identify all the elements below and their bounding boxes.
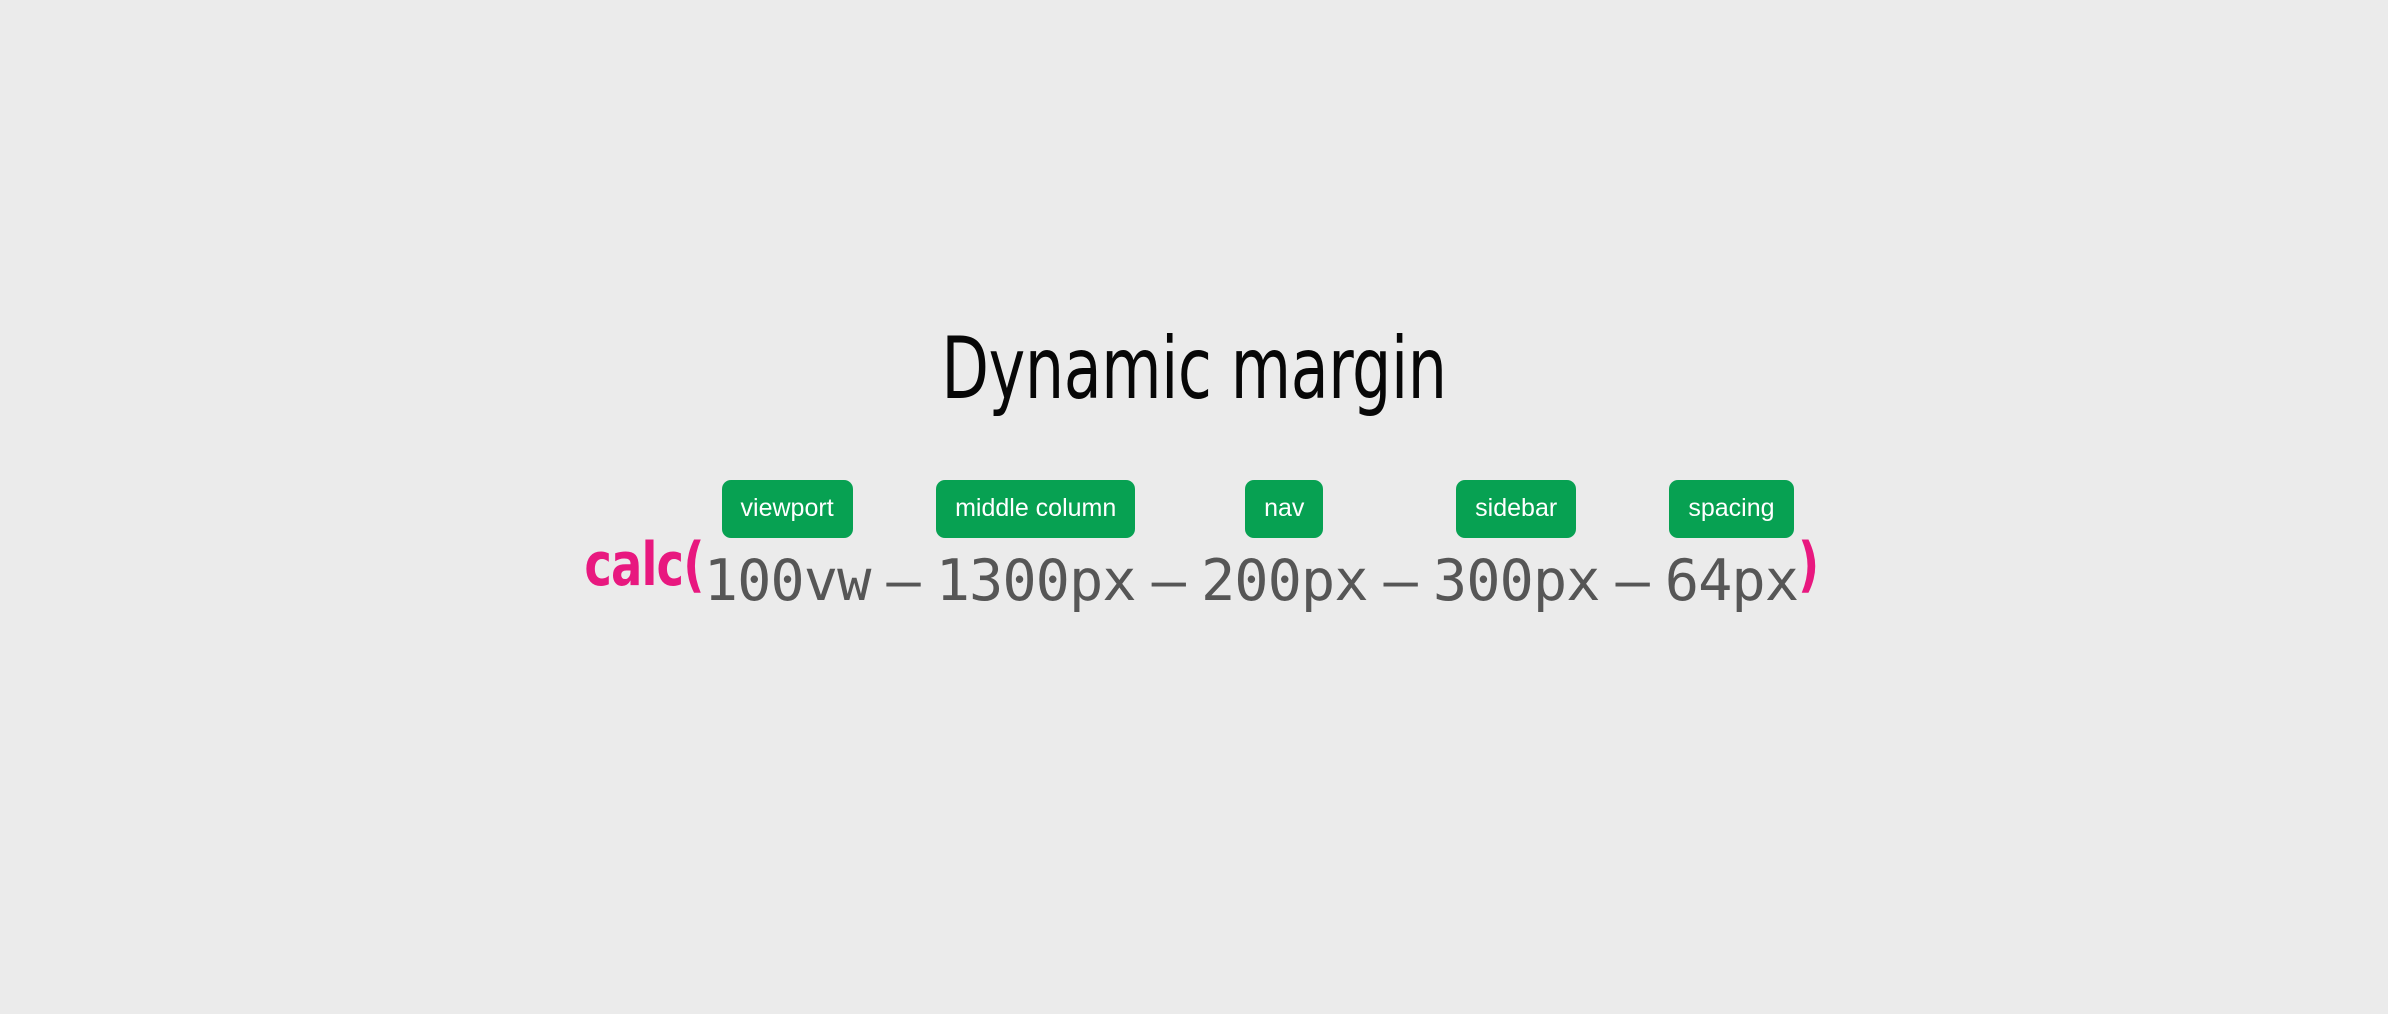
calc-operator-3: –: [1368, 549, 1433, 613]
annotation-pill-viewport: viewport: [722, 480, 853, 538]
calc-value-middle-column: 1300px: [936, 549, 1136, 613]
calc-value-spacing: 64px: [1665, 549, 1798, 613]
calc-expression: calc( viewport 100vw – middle column 130…: [0, 480, 2388, 613]
annotation-pill-nav: nav: [1245, 480, 1323, 538]
calc-value-viewport: 100vw: [704, 549, 871, 613]
page-title: Dynamic margin: [239, 326, 2149, 412]
slide-canvas: Dynamic margin calc( viewport 100vw – mi…: [0, 0, 2388, 1014]
calc-function-close-token: ): [1798, 517, 1819, 613]
annotation-pill-middle-column: middle column: [936, 480, 1135, 538]
calc-function-open-token: calc(: [585, 517, 704, 613]
calc-operator-1: –: [870, 549, 935, 613]
calc-term-middle-column: middle column 1300px: [936, 480, 1136, 613]
calc-term-sidebar: sidebar 300px: [1433, 480, 1600, 613]
calc-operator-2: –: [1136, 549, 1201, 613]
calc-term-viewport: viewport 100vw: [704, 480, 871, 613]
calc-term-spacing: spacing 64px: [1665, 480, 1798, 613]
calc-value-sidebar: 300px: [1433, 549, 1600, 613]
annotation-pill-sidebar: sidebar: [1456, 480, 1576, 538]
calc-term-nav: nav 200px: [1201, 480, 1368, 613]
calc-value-nav: 200px: [1201, 549, 1368, 613]
calc-expression-row: calc( viewport 100vw – middle column 130…: [565, 480, 1823, 613]
calc-operator-4: –: [1599, 549, 1664, 613]
annotation-pill-spacing: spacing: [1669, 480, 1793, 538]
